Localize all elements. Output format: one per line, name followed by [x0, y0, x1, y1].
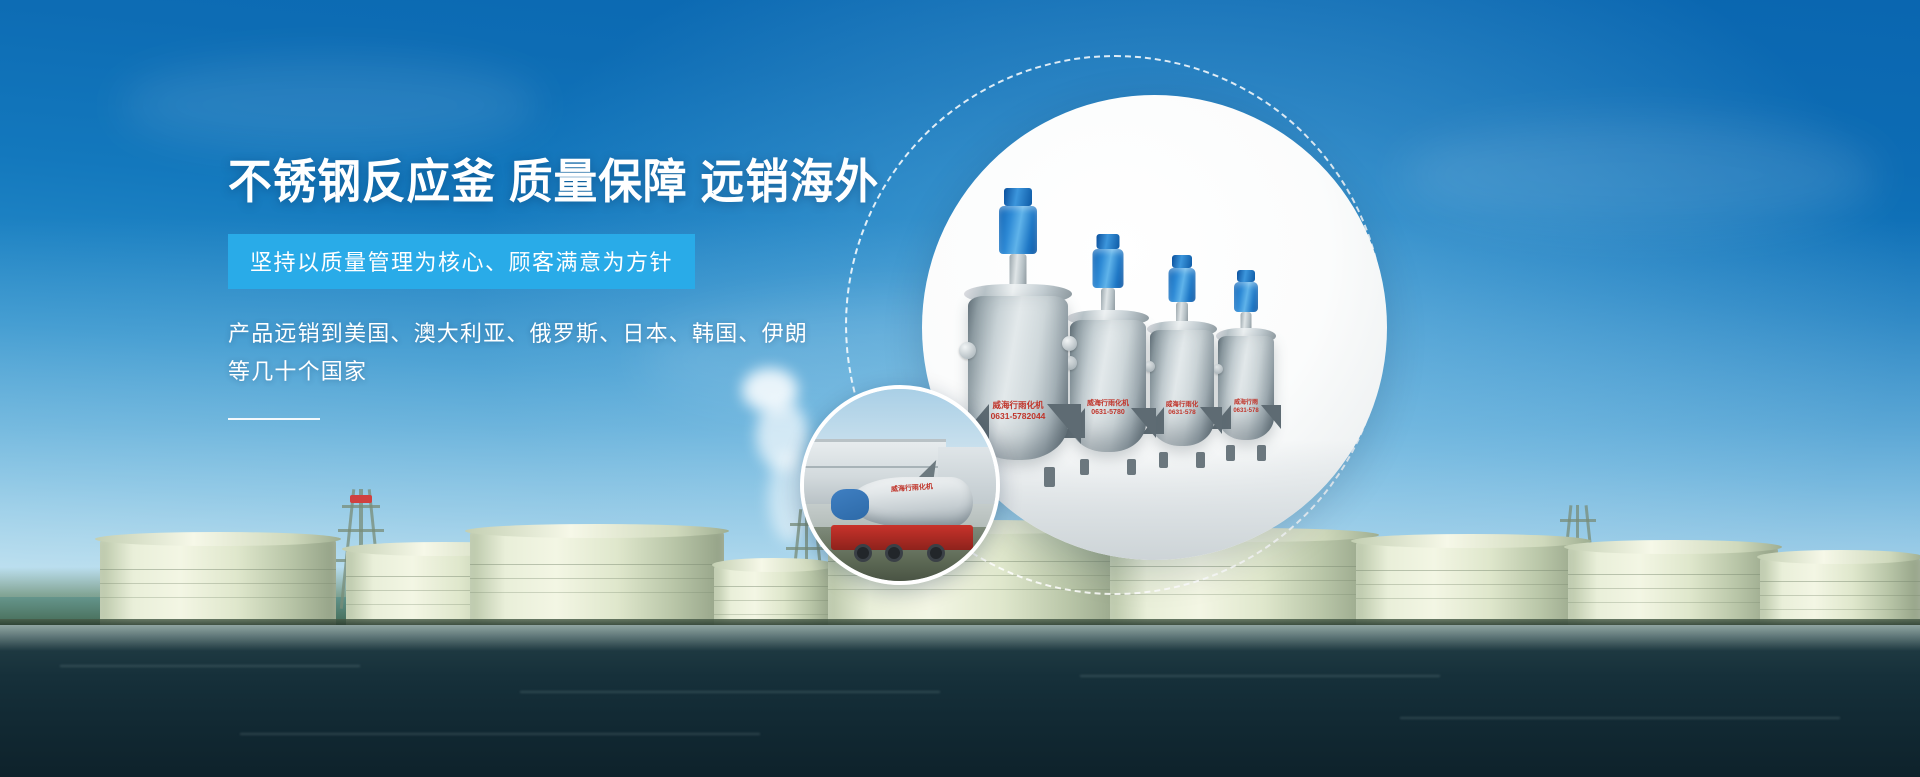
description-text: 产品远销到美国、澳大利亚、俄罗斯、日本、韩国、伊朗 等几十个国家 [228, 315, 868, 392]
reactor-vessel: 威海行雨化 0631-578 [1150, 321, 1214, 455]
description-line-2: 等几十个国家 [228, 353, 868, 392]
vessel-label-line2: 0631-578 [1166, 409, 1199, 417]
storage-tank [1568, 547, 1778, 627]
reactor-vessel: 威海行雨化机 0631-5780 [1070, 310, 1146, 462]
hero-banner: 威海行雨 0631-578 威海行雨化 0631-578 [0, 0, 1920, 777]
storage-tank [470, 531, 724, 627]
truck-trailer [831, 525, 973, 550]
vessel-label-line1: 威海行雨化机 [1087, 400, 1129, 409]
page-title: 不锈钢反应釜 质量保障 远销海外 [228, 156, 823, 208]
copy-block: 不锈钢反应釜 质量保障 远销海外 坚持以质量管理为核心、顾客满意为方针 产品远销… [228, 156, 868, 420]
water-reflection [0, 625, 1920, 651]
storage-tank [1760, 557, 1920, 627]
description-line-1: 产品远销到美国、澳大利亚、俄罗斯、日本、韩国、伊朗 [228, 315, 868, 354]
water-foreground [0, 625, 1920, 777]
storage-tank [1356, 541, 1586, 627]
truck-wheel [854, 544, 872, 562]
divider-rule [228, 418, 320, 420]
truck-wheel [927, 544, 945, 562]
storage-tank [100, 539, 336, 627]
cloud-shape [1400, 120, 1880, 230]
vessel-label-line2: 0631-5782044 [991, 411, 1046, 422]
slogan-badge: 坚持以质量管理为核心、顾客满意为方针 [228, 234, 695, 289]
truck-wheel [885, 544, 903, 562]
vessel-label-line1: 威海行雨 [1233, 400, 1258, 408]
cloud-shape [120, 60, 540, 150]
vessel-label-line1: 威海行雨化 [1166, 401, 1199, 409]
tank-nozzle [831, 489, 869, 520]
vessel-label-line1: 威海行雨化机 [991, 400, 1046, 411]
vessel-label-line2: 0631-5780 [1087, 409, 1129, 418]
reactor-vessel: 威海行雨 0631-578 [1218, 328, 1274, 448]
vessel-label-line2: 0631-578 [1233, 408, 1258, 416]
